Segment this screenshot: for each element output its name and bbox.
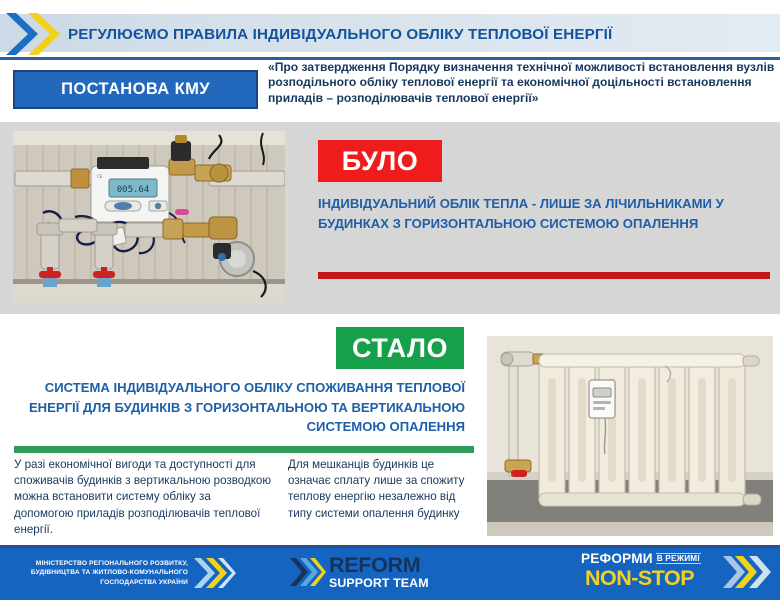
slide-root: РЕГУЛЮЄМО ПРАВИЛА ІНДИВІДУАЛЬНОГО ОБЛІКУ… bbox=[0, 0, 780, 600]
heat-meter-photo: 005.64 CE bbox=[13, 131, 285, 303]
resolution-quote: «Про затвердження Порядку визначення тех… bbox=[268, 60, 776, 106]
non-stop-reforms-text: РЕФОРМИ bbox=[581, 551, 653, 566]
ministry-logo-text: МІНІСТЕРСТВО РЕГІОНАЛЬНОГО РОЗВИТКУ, БУД… bbox=[8, 559, 188, 587]
rst-support-text: SUPPORT TEAM bbox=[329, 576, 429, 590]
became-heading: СИСТЕМА ІНДИВІДУАЛЬНОГО ОБЛІКУ СПОЖИВАНН… bbox=[10, 378, 465, 437]
non-stop-logo: РЕФОРМИ В РЕЖИМІ NON-STOP bbox=[575, 549, 773, 595]
became-body-columns: У разі економічної вигоди та доступності… bbox=[14, 457, 476, 538]
was-divider bbox=[318, 272, 770, 279]
header-chevron-icon bbox=[2, 10, 68, 58]
was-heading: ІНДИВІДУАЛЬНИЙ ОБЛІК ТЕПЛА - ЛИШЕ ЗА ЛІЧ… bbox=[318, 194, 770, 233]
page-title-text: РЕГУЛЮЄМО ПРАВИЛА ІНДИВІДУАЛЬНОГО ОБЛІКУ… bbox=[68, 26, 612, 43]
ministry-line-3: ГОСПОДАРСТВА УКРАЇНИ bbox=[8, 578, 188, 587]
svg-text:005.64: 005.64 bbox=[117, 185, 150, 195]
non-stop-mode-text: В РЕЖИМІ bbox=[656, 553, 701, 564]
reform-support-team-logo: REFORM SUPPORT TEAM bbox=[288, 551, 460, 593]
became-status-badge: СТАЛО bbox=[336, 327, 464, 369]
was-status-badge-label: БУЛО bbox=[342, 146, 418, 177]
non-stop-top-line: РЕФОРМИ В РЕЖИМІ bbox=[581, 551, 701, 566]
was-status-badge: БУЛО bbox=[318, 140, 442, 182]
resolution-badge-label: ПОСТАНОВА КМУ bbox=[61, 80, 210, 99]
became-status-badge-label: СТАЛО bbox=[352, 333, 448, 364]
rst-wordmark: REFORM SUPPORT TEAM bbox=[329, 555, 429, 590]
rst-reform-text: REFORM bbox=[329, 555, 429, 576]
page-title: РЕГУЛЮЄМО ПРАВИЛА ІНДИВІДУАЛЬНОГО ОБЛІКУ… bbox=[68, 19, 768, 49]
ministry-line-1: МІНІСТЕРСТВО РЕГІОНАЛЬНОГО РОЗВИТКУ, bbox=[8, 559, 188, 568]
became-divider bbox=[14, 446, 474, 453]
resolution-badge: ПОСТАНОВА КМУ bbox=[13, 70, 258, 109]
non-stop-headline: NON-STOP bbox=[585, 566, 694, 591]
body-paragraph-left: У разі економічної вигоди та доступності… bbox=[14, 457, 272, 538]
body-paragraph-right: Для мешканців будинків це означає сплату… bbox=[288, 457, 476, 538]
svg-text:CE: CE bbox=[97, 174, 103, 179]
radiator-photo bbox=[487, 336, 773, 536]
non-stop-chevron-icon bbox=[721, 553, 773, 591]
rst-chevron-icon bbox=[288, 556, 326, 588]
ministry-chevron-icon bbox=[192, 556, 236, 590]
ministry-logo: МІНІСТЕРСТВО РЕГІОНАЛЬНОГО РОЗВИТКУ, БУД… bbox=[8, 553, 238, 593]
ministry-line-2: БУДІВНИЦТВА ТА ЖИТЛОВО-КОМУНАЛЬНОГО bbox=[8, 568, 188, 577]
